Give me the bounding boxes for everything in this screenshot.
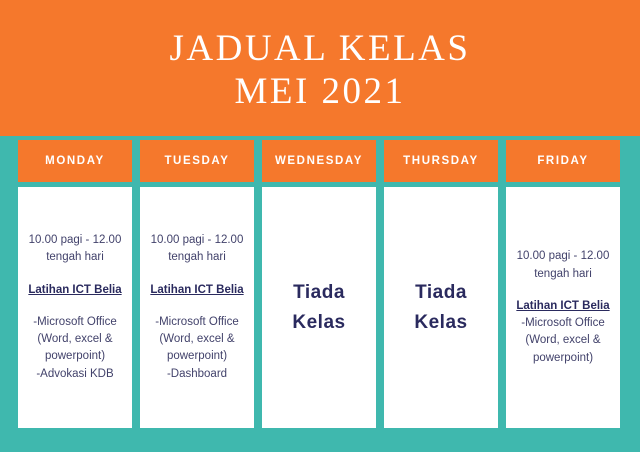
day-header-label: TUESDAY [164, 155, 229, 167]
poster-title-line-1: JADUAL KELAS [170, 28, 471, 71]
schedule-poster: JADUAL KELAS MEI 2021 MONDAY 10.00 pagi … [0, 0, 640, 452]
class-time: 10.00 pagi - 12.00 tengah hari [513, 248, 613, 283]
no-class-label: Tiada Kelas [391, 278, 491, 337]
day-header-label: THURSDAY [403, 155, 479, 167]
day-cell-tuesday: 10.00 pagi - 12.00 tengah hari Latihan I… [140, 187, 254, 428]
day-column-thursday: THURSDAY Tiada Kelas [384, 140, 498, 428]
class-title: Latihan ICT Belia [147, 282, 247, 299]
schedule-grid: MONDAY 10.00 pagi - 12.00 tengah hari La… [18, 140, 620, 428]
day-header-label: WEDNESDAY [275, 155, 363, 167]
day-header-monday: MONDAY [18, 140, 132, 182]
class-items: -Microsoft Office (Word, excel & powerpo… [147, 314, 247, 383]
day-header-label: MONDAY [45, 155, 105, 167]
day-header-wednesday: WEDNESDAY [262, 140, 376, 182]
day-column-tuesday: TUESDAY 10.00 pagi - 12.00 tengah hari L… [140, 140, 254, 428]
day-cell-friday: 10.00 pagi - 12.00 tengah hari Latihan I… [506, 187, 620, 428]
day-header-friday: FRIDAY [506, 140, 620, 182]
class-title: Latihan ICT Belia [25, 282, 125, 299]
day-header-label: FRIDAY [537, 155, 588, 167]
day-cell-monday: 10.00 pagi - 12.00 tengah hari Latihan I… [18, 187, 132, 428]
class-title: Latihan ICT Belia [513, 298, 613, 315]
day-header-tuesday: TUESDAY [140, 140, 254, 182]
day-column-wednesday: WEDNESDAY Tiada Kelas [262, 140, 376, 428]
class-items: -Microsoft Office (Word, excel & powerpo… [513, 315, 613, 367]
class-time: 10.00 pagi - 12.00 tengah hari [147, 232, 247, 267]
day-column-friday: FRIDAY 10.00 pagi - 12.00 tengah hari La… [506, 140, 620, 428]
no-class-label: Tiada Kelas [269, 278, 369, 337]
title-banner: JADUAL KELAS MEI 2021 [0, 0, 640, 136]
day-column-monday: MONDAY 10.00 pagi - 12.00 tengah hari La… [18, 140, 132, 428]
poster-title-line-2: MEI 2021 [234, 71, 405, 114]
day-header-thursday: THURSDAY [384, 140, 498, 182]
day-cell-thursday: Tiada Kelas [384, 187, 498, 428]
class-items: -Microsoft Office (Word, excel & powerpo… [25, 314, 125, 383]
class-time: 10.00 pagi - 12.00 tengah hari [25, 232, 125, 267]
day-cell-wednesday: Tiada Kelas [262, 187, 376, 428]
